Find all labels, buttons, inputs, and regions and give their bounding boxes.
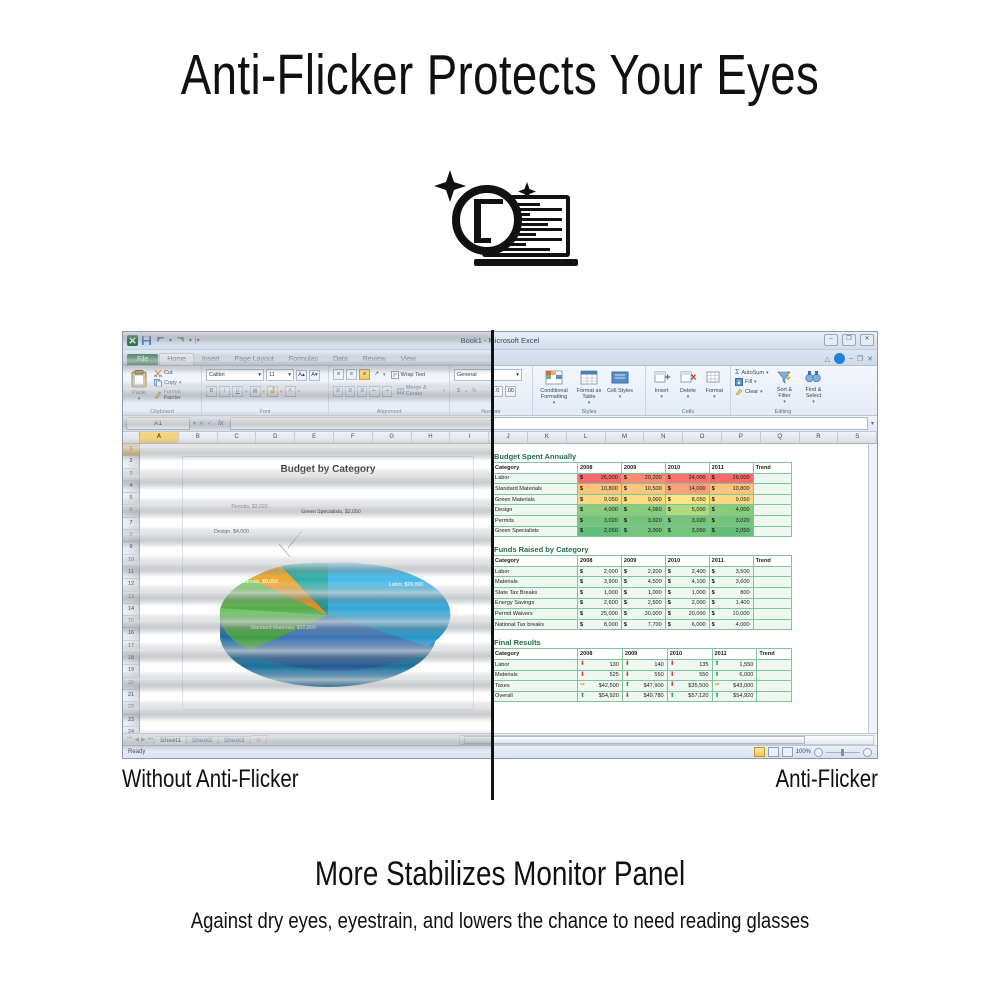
tab-data[interactable]: Data: [326, 354, 355, 365]
monitor-screen: ▾ ▾ |▾ Book1 - Microsoft Excel – ❐ ✕ Fil…: [122, 331, 878, 759]
table-row[interactable]: Overall ⬆$54,920 ⬇$49,780 ⬆$57,120 ⬆$54,…: [493, 691, 792, 702]
name-box[interactable]: A1: [126, 417, 190, 430]
table-row[interactable]: Design $4,000 $4,060 $5,000 $4,000: [493, 505, 792, 516]
cell-category: Labor: [493, 659, 578, 670]
row-header[interactable]: 4: [123, 481, 139, 493]
copy-label: Copy: [164, 380, 177, 386]
fill-label: Fill: [745, 379, 752, 385]
align-center-button[interactable]: ≣: [345, 386, 355, 397]
excel-window: ▾ ▾ |▾ Book1 - Microsoft Excel – ❐ ✕ Fil…: [123, 332, 877, 758]
copy-dropdown-icon[interactable]: ▾: [179, 380, 182, 386]
footer-subtext: Against dry eyes, eyestrain, and lowers …: [80, 908, 920, 934]
cell-value: $25,000: [578, 609, 622, 620]
horizontal-scrollbar[interactable]: [459, 735, 874, 745]
pie-label-green-materials: Green Materials, $9,050: [211, 579, 289, 585]
zoom-level: 100%: [796, 749, 811, 755]
increase-font-size-button[interactable]: A▴: [296, 370, 307, 381]
cells-group-label: Cells: [646, 409, 730, 415]
borders-button[interactable]: ▦: [250, 386, 261, 397]
fill-color-dropdown-icon[interactable]: ▾: [280, 389, 283, 395]
row-header[interactable]: 11: [123, 567, 139, 579]
next-sheet-icon[interactable]: ▶: [140, 736, 147, 743]
column-header-s[interactable]: S: [838, 432, 877, 443]
ribbon-group-editing: Σ AutoSum ▾ Fill ▾ Clear: [731, 366, 835, 415]
cell-value: $4,000: [709, 619, 753, 630]
column-header-m[interactable]: M: [606, 432, 645, 443]
table-row[interactable]: Materials $3,900 $4,500 $4,100 $3,600: [493, 577, 792, 588]
fill-color-button[interactable]: ▟: [267, 386, 278, 397]
cell-value: $3,020: [709, 515, 753, 526]
formula-input[interactable]: [230, 417, 868, 430]
ribbon-group-clipboard: Paste ▾ Cut Copy ▾: [123, 366, 202, 415]
table-row[interactable]: Materials ⬇525 ⬇550 ⬇550 ⬆6,000: [493, 670, 792, 681]
font-size-select[interactable]: 11▾: [266, 369, 294, 381]
cell-value: $1,000: [578, 587, 622, 598]
budget-pie-chart[interactable]: Budget by Category: [182, 456, 474, 710]
ribbon-close-icon[interactable]: ✕: [867, 355, 873, 363]
column-header-g[interactable]: G: [373, 432, 412, 443]
cell-trend: [753, 587, 791, 598]
cell-value: $4,000: [578, 505, 622, 516]
alignment-group-label: Alignment: [329, 409, 449, 415]
cell-trend: [757, 691, 792, 702]
font-name-value: Calibri: [209, 371, 225, 379]
cell-category: State Tax Breaks: [493, 587, 578, 598]
vertical-scrollbar[interactable]: [868, 444, 877, 733]
clear-label: Clear: [745, 389, 758, 395]
column-header-k[interactable]: K: [528, 432, 567, 443]
arrow-flat-icon: ➡: [580, 682, 585, 689]
number-format-select[interactable]: General▾: [454, 369, 522, 381]
row-header[interactable]: 8: [123, 530, 139, 542]
formula-bar[interactable]: A1 ▾ ✕ ✓ fx ▾: [123, 416, 877, 432]
insert-sheet-button[interactable]: ✲: [249, 735, 268, 744]
cell-value: $3,900: [578, 577, 622, 588]
cell-value: $4,100: [665, 577, 709, 588]
align-middle-button[interactable]: ≡: [346, 369, 357, 380]
table-row[interactable]: Labor $2,000 $2,200 $2,400 $3,500: [493, 566, 792, 577]
table-row[interactable]: Standard Materials $10,800 $10,500 $14,0…: [493, 484, 792, 495]
table-title-budget-spent: Budget Spent Annually: [494, 452, 812, 461]
format-as-table-dropdown-icon[interactable]: ▾: [588, 400, 591, 406]
table-row[interactable]: Green Specialists $2,050 $3,000 $3,050 $…: [493, 526, 792, 537]
column-header-q[interactable]: Q: [761, 432, 800, 443]
minimize-button[interactable]: –: [824, 334, 838, 346]
format-painter-label: Format Painter: [163, 389, 197, 401]
th-category: Category: [493, 463, 578, 474]
row-header[interactable]: 23: [123, 715, 139, 727]
column-header-i[interactable]: I: [450, 432, 489, 443]
column-header-h[interactable]: H: [412, 432, 451, 443]
column-header-f[interactable]: F: [334, 432, 373, 443]
arrow-up-icon: ⬆: [715, 661, 720, 668]
caption-without-anti-flicker: Without Anti-Flicker: [122, 765, 299, 794]
pie-label-permits: Permits, $3,020: [207, 504, 292, 510]
table-row[interactable]: Energy Savings $2,600 $2,500 $2,000 $1,4…: [493, 598, 792, 609]
decrease-font-size-button[interactable]: A▾: [309, 370, 320, 381]
row-header[interactable]: 21: [123, 690, 139, 702]
table-row[interactable]: National Tax breaks $8,000 $7,700 $6,000…: [493, 619, 792, 630]
page-layout-view-button[interactable]: [768, 747, 779, 757]
table-row[interactable]: Permit Waivers $25,000 $30,000 $20,000 $…: [493, 609, 792, 620]
cancel-formula-icon[interactable]: ✕: [199, 420, 204, 427]
orientation-button[interactable]: ↗: [372, 370, 381, 379]
accept-formula-icon[interactable]: ✓: [207, 420, 212, 427]
increase-indent-button[interactable]: ⇥: [382, 386, 392, 397]
arrow-down-icon: ⬇: [580, 672, 585, 679]
decrease-decimal-button[interactable]: .00: [505, 386, 516, 397]
editing-group-label: Editing: [731, 409, 835, 415]
insert-dropdown-icon[interactable]: ▾: [660, 394, 663, 400]
insert-function-icon[interactable]: fx: [215, 420, 226, 427]
cell-value: $3,050: [665, 526, 709, 537]
cell-category: Materials: [493, 577, 578, 588]
row-headers[interactable]: 1 2 3 4 5 6 7 8 9 10 11 12 13 14: [123, 444, 140, 733]
format-dropdown-icon[interactable]: ▾: [713, 394, 716, 400]
tab-view[interactable]: View: [394, 354, 423, 365]
ribbon-tab-bar[interactable]: File Home Insert Page Layout Formulas Da…: [123, 350, 877, 366]
cell-category: Taxes: [493, 681, 578, 692]
cell-trend: [757, 659, 792, 670]
ribbon-group-styles: Conditional Formatting ▾ Format as Table…: [533, 366, 646, 415]
row-header[interactable]: 24: [123, 727, 139, 733]
select-all-button[interactable]: [123, 432, 140, 443]
zoom-out-button[interactable]: [814, 748, 823, 757]
autosum-dropdown-icon[interactable]: ▾: [766, 370, 769, 376]
align-left-button[interactable]: ≣: [333, 386, 343, 397]
table-row[interactable]: Labor ⬇130 ⬇140 ⬇135 ⬆1,550: [493, 659, 792, 670]
fill-button[interactable]: Fill ▾: [735, 378, 768, 386]
column-header-a[interactable]: A: [140, 432, 179, 443]
merge-dropdown-icon[interactable]: ▾: [442, 388, 445, 394]
cell-value: ⬇525: [578, 670, 623, 681]
sort-filter-button[interactable]: Sort & Filter ▾: [771, 369, 797, 405]
restore-button[interactable]: ❐: [842, 334, 856, 346]
cell-category: Green Materials: [493, 494, 578, 505]
table-funds-raised-by-category[interactable]: Category 2008 2009 2010 2011 Trend Labor: [492, 555, 792, 630]
cell-trend: [753, 598, 791, 609]
first-sheet-icon[interactable]: ⏮: [126, 736, 133, 743]
table-budget-spent-annually[interactable]: Category 2008 2009 2010 2011 Trend Labor: [492, 462, 792, 537]
fill-dropdown-icon[interactable]: ▾: [754, 379, 757, 385]
th-2011: 2011: [709, 463, 753, 474]
borders-dropdown-icon[interactable]: ▾: [263, 389, 266, 395]
row-header[interactable]: 15: [123, 616, 139, 628]
cell-value: $3,020: [621, 515, 665, 526]
caption-anti-flicker: Anti-Flicker: [775, 765, 878, 794]
insert-cells-icon: [653, 369, 671, 387]
th-2008: 2008: [578, 649, 623, 660]
row-header[interactable]: 18: [123, 653, 139, 665]
cell-value: $6,000: [665, 619, 709, 630]
cell-value: $7,700: [621, 619, 665, 630]
cell-trend: [753, 526, 791, 537]
column-header-e[interactable]: E: [295, 432, 334, 443]
font-size-value: 11: [269, 371, 275, 379]
row-header[interactable]: 2: [123, 456, 139, 468]
th-2009: 2009: [622, 649, 667, 660]
cell-trend: [757, 681, 792, 692]
tab-formulas[interactable]: Formulas: [282, 354, 325, 365]
arrow-down-icon: ⬇: [670, 682, 675, 689]
cell-category: Design: [493, 505, 578, 516]
cell-styles-dropdown-icon[interactable]: ▾: [619, 394, 622, 400]
cell-value: ⬆$54,920: [578, 691, 623, 702]
cell-trend: [753, 515, 791, 526]
prev-sheet-icon[interactable]: ◀: [133, 736, 140, 743]
sheet-tab-sheet3[interactable]: Sheet3: [217, 736, 251, 744]
cut-label: Cut: [164, 370, 173, 376]
table-row[interactable]: State Tax Breaks $1,000 $1,000 $1,000 $8…: [493, 587, 792, 598]
cell-value: $2,000: [578, 566, 622, 577]
conditional-formatting-label: Conditional Formatting: [537, 388, 571, 400]
find-select-button[interactable]: Find & Select ▾: [800, 369, 826, 405]
sigma-icon: Σ: [735, 369, 739, 376]
cell-styles-icon: [610, 369, 630, 387]
row-header[interactable]: 6: [123, 505, 139, 517]
row-header[interactable]: 22: [123, 702, 139, 714]
merge-center-label: Merge & Center: [406, 385, 441, 397]
arrow-down-icon: ⬇: [580, 661, 585, 668]
cell-value: $3,000: [621, 526, 665, 537]
row-header[interactable]: 12: [123, 579, 139, 591]
cut-button[interactable]: Cut: [154, 369, 197, 377]
cell-value: ⬇550: [667, 670, 712, 681]
cell-trend: [753, 494, 791, 505]
format-as-table-icon: [579, 369, 599, 387]
cell-trend: [753, 609, 791, 620]
format-as-table-button[interactable]: Format as Table ▾: [574, 369, 604, 406]
arrow-up-icon: ⬆: [580, 693, 585, 700]
currency-dropdown-icon[interactable]: ▾: [465, 389, 468, 395]
sheet-tab-sheet1[interactable]: Sheet1: [153, 736, 188, 744]
delete-dropdown-icon[interactable]: ▾: [687, 394, 690, 400]
decrease-indent-button[interactable]: ⇤: [369, 386, 379, 397]
normal-view-button[interactable]: [754, 747, 765, 757]
cell-value: $3,500: [709, 566, 753, 577]
zoom-in-button[interactable]: [863, 748, 872, 757]
copy-button[interactable]: Copy ▾: [154, 379, 197, 387]
cell-trend: [753, 577, 791, 588]
table-row[interactable]: Green Materials $9,050 $9,000 $8,050 $9,…: [493, 494, 792, 505]
column-header-p[interactable]: P: [722, 432, 761, 443]
font-group-label: Font: [202, 409, 328, 415]
window-controls[interactable]: – ❐ ✕: [824, 334, 874, 346]
row-header[interactable]: 13: [123, 592, 139, 604]
table-final-results[interactable]: Category 2008 2009 2010 2011 Trend Labor: [492, 648, 792, 702]
row-header[interactable]: 1: [123, 444, 139, 456]
cell-category: Labor: [493, 566, 578, 577]
page-break-view-button[interactable]: [782, 747, 793, 757]
clear-dropdown-icon[interactable]: ▾: [760, 389, 763, 395]
monitor-sparkle-icon: [432, 162, 578, 278]
row-header[interactable]: 5: [123, 493, 139, 505]
table-row[interactable]: Labor $26,000 $20,200 $24,000 $26,000: [493, 473, 792, 484]
cell-value: $8,000: [578, 619, 622, 630]
align-right-button[interactable]: ≣: [357, 386, 367, 397]
arrow-up-icon: ⬆: [670, 693, 675, 700]
ribbon-group-cells: Insert ▾ Delete ▾ Format ▾: [646, 366, 731, 415]
autosum-button[interactable]: Σ AutoSum ▾: [735, 369, 768, 376]
cell-value: $8,050: [665, 494, 709, 505]
th-trend: Trend: [753, 556, 791, 567]
cell-value: $2,400: [665, 566, 709, 577]
smiley-icon[interactable]: △: [825, 355, 830, 363]
cell-value: $3,020: [665, 515, 709, 526]
page-title: Anti-Flicker Protects Your Eyes: [100, 44, 900, 106]
delete-cells-button[interactable]: Delete ▾: [676, 369, 699, 400]
insert-cells-button[interactable]: Insert ▾: [650, 369, 673, 400]
cell-value: $1,400: [709, 598, 753, 609]
paste-button[interactable]: Paste ▾: [127, 369, 151, 402]
ribbon[interactable]: Paste ▾ Cut Copy ▾: [123, 366, 877, 416]
cell-value: $4,060: [621, 505, 665, 516]
font-name-select[interactable]: Calibri▾: [206, 369, 264, 381]
cell-styles-button[interactable]: Cell Styles ▾: [607, 369, 633, 400]
th-category: Category: [493, 556, 578, 567]
th-2010: 2010: [665, 556, 709, 567]
tab-home[interactable]: Home: [159, 353, 194, 365]
italic-button[interactable]: I: [219, 386, 230, 397]
clear-button[interactable]: Clear ▾: [735, 388, 768, 396]
th-2010: 2010: [665, 463, 709, 474]
cell-trend: [753, 566, 791, 577]
sort-filter-dropdown-icon[interactable]: ▾: [783, 399, 786, 405]
cell-value: $26,000: [709, 473, 753, 484]
row-header[interactable]: 20: [123, 678, 139, 690]
arrow-down-icon: ⬇: [670, 661, 675, 668]
comma-format-button[interactable]: ,: [481, 387, 490, 396]
cell-value: ⬆$54,920: [712, 691, 757, 702]
sheet-tab-bar[interactable]: ⏮ ◀ ▶ ⏭ Sheet1 Sheet2 Sheet3 ✲: [123, 733, 877, 745]
row-header[interactable]: 17: [123, 641, 139, 653]
status-text: Ready: [123, 749, 145, 755]
scrollbar-thumb[interactable]: [464, 736, 805, 744]
ribbon-group-alignment: ≡ ≡ ≡ ↗ ▾ Wrap Text ≣ ≣: [329, 366, 450, 415]
column-header-c[interactable]: C: [218, 432, 257, 443]
conditional-formatting-dropdown-icon[interactable]: ▾: [553, 400, 556, 406]
align-top-button[interactable]: ≡: [333, 369, 344, 380]
paintbrush-icon: [154, 391, 161, 399]
name-box-dropdown-icon[interactable]: ▾: [193, 420, 196, 427]
paste-dropdown-icon[interactable]: ▾: [138, 396, 141, 402]
tab-review[interactable]: Review: [356, 354, 393, 365]
table-header-row: Category 2008 2009 2010 2011 Trend: [493, 556, 792, 567]
row-header[interactable]: 16: [123, 628, 139, 640]
expand-formula-bar-icon[interactable]: ▾: [871, 420, 874, 427]
binoculars-icon: [804, 369, 822, 386]
align-bottom-button[interactable]: ≡: [359, 369, 370, 380]
cell-value: ⬇$35,500: [667, 681, 712, 692]
conditional-formatting-button[interactable]: Conditional Formatting ▾: [537, 369, 571, 406]
cell-value: $2,600: [578, 598, 622, 609]
cell-value: $2,050: [578, 526, 622, 537]
arrow-down-icon: ⬇: [625, 672, 630, 679]
wrap-text-button[interactable]: Wrap Text: [391, 371, 426, 379]
row-header[interactable]: 10: [123, 555, 139, 567]
currency-format-button[interactable]: $: [454, 387, 463, 396]
tab-insert[interactable]: Insert: [195, 354, 227, 365]
orientation-dropdown-icon[interactable]: ▾: [383, 372, 386, 378]
cell-area[interactable]: Budget by Category: [140, 444, 877, 733]
column-header-j[interactable]: J: [489, 432, 528, 443]
underline-dropdown-icon[interactable]: ▾: [245, 389, 248, 395]
cell-value: $9,000: [621, 494, 665, 505]
cell-value: ⬇$49,780: [622, 691, 667, 702]
column-header-l[interactable]: L: [567, 432, 606, 443]
promo-page: Anti-Flicker Protects Your Eyes: [0, 0, 1000, 1000]
ribbon-minimize-icon[interactable]: –: [849, 355, 853, 362]
row-header[interactable]: 19: [123, 665, 139, 677]
column-headers[interactable]: A B C D E F G H I J K L M N O P Q: [123, 432, 877, 444]
format-cells-button[interactable]: Format ▾: [703, 369, 726, 400]
format-painter-button[interactable]: Format Painter: [154, 389, 197, 401]
table-row[interactable]: Taxes ➡$42,500 ⬆$47,900 ⬇$35,500 ➡$43,00…: [493, 681, 792, 692]
row-header[interactable]: 3: [123, 469, 139, 481]
th-2009: 2009: [621, 556, 665, 567]
comparison-divider: [491, 330, 494, 800]
styles-group-label: Styles: [533, 409, 645, 415]
tab-file[interactable]: File: [127, 354, 158, 365]
excel-title-bar: ▾ ▾ |▾ Book1 - Microsoft Excel – ❐ ✕: [123, 332, 877, 350]
pie-label-standard-materials: Standard Materials, $10,800: [248, 625, 318, 631]
th-2011: 2011: [712, 649, 757, 660]
arrow-down-icon: ⬇: [625, 661, 630, 668]
find-select-dropdown-icon[interactable]: ▾: [812, 399, 815, 405]
clipboard-group-label: Clipboard: [123, 409, 201, 415]
tab-page-layout[interactable]: Page Layout: [227, 354, 280, 365]
table-row[interactable]: Permits $3,020 $3,020 $3,020 $3,020: [493, 515, 792, 526]
cell-value: ➡$43,000: [712, 681, 757, 692]
merge-center-button[interactable]: Merge & Center ▾: [397, 385, 445, 397]
delete-cells-icon: [679, 369, 697, 387]
row-header[interactable]: 7: [123, 518, 139, 530]
bold-button[interactable]: B: [206, 386, 217, 397]
th-2008: 2008: [578, 556, 622, 567]
column-header-r[interactable]: R: [800, 432, 839, 443]
zoom-slider[interactable]: [826, 752, 860, 753]
font-color-button[interactable]: A: [285, 386, 296, 397]
zoom-slider-knob[interactable]: [841, 749, 844, 756]
eraser-icon: [735, 388, 743, 396]
cell-value: $10,800: [709, 484, 753, 495]
cell-value: ⬇140: [622, 659, 667, 670]
font-color-dropdown-icon[interactable]: ▾: [298, 389, 301, 395]
table-header-row: Category 2008 2009 2010 2011 Trend: [493, 649, 792, 660]
row-header[interactable]: 9: [123, 542, 139, 554]
underline-button[interactable]: U: [232, 386, 243, 397]
arrow-down-icon: ⬇: [625, 693, 630, 700]
ribbon-restore-icon[interactable]: ❐: [857, 355, 863, 363]
close-button[interactable]: ✕: [860, 334, 874, 346]
column-header-o[interactable]: O: [683, 432, 722, 443]
wrap-text-icon: [391, 371, 399, 379]
column-header-b[interactable]: B: [179, 432, 218, 443]
ribbon-help-controls[interactable]: △ ? – ❐ ✕: [825, 353, 873, 364]
cell-category: Materials: [493, 670, 578, 681]
footer-tagline: More Stabilizes Monitor Panel: [90, 855, 910, 894]
percent-format-button[interactable]: %: [470, 387, 479, 396]
cell-value: ➡$42,500: [578, 681, 623, 692]
table-title-final-results: Final Results: [494, 638, 812, 647]
help-icon[interactable]: ?: [834, 353, 845, 364]
row-header[interactable]: 14: [123, 604, 139, 616]
column-header-d[interactable]: D: [256, 432, 295, 443]
copy-icon: [154, 379, 162, 387]
sheet-tab-sheet2[interactable]: Sheet2: [186, 736, 220, 744]
cell-value: $800: [709, 587, 753, 598]
column-header-n[interactable]: N: [644, 432, 683, 443]
